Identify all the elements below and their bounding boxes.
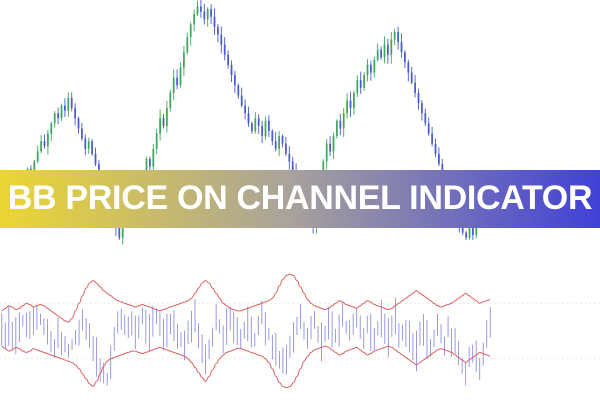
- candlestick: [50, 122, 52, 141]
- candlestick: [180, 62, 182, 87]
- candlestick: [404, 50, 406, 68]
- candlestick: [282, 135, 284, 148]
- candlestick: [339, 114, 341, 135]
- candlestick: [336, 119, 338, 138]
- candlestick: [244, 99, 246, 119]
- candlestick: [169, 90, 171, 112]
- candlestick: [435, 138, 437, 157]
- candlestick: [224, 37, 226, 60]
- candlestick: [380, 47, 382, 60]
- candlestick: [200, 0, 202, 18]
- candlestick: [176, 69, 178, 89]
- candlestick: [356, 75, 358, 97]
- candlestick: [424, 109, 426, 127]
- candlestick: [251, 121, 253, 133]
- candlestick: [67, 92, 69, 116]
- candlestick: [397, 27, 399, 50]
- candlestick: [183, 46, 185, 76]
- indicator-chart-panel: [0, 262, 600, 400]
- candlestick: [84, 134, 86, 155]
- candlestick: [61, 104, 63, 121]
- candlestick: [390, 32, 392, 64]
- candlestick: [81, 123, 83, 141]
- candlestick: [186, 33, 188, 55]
- candlestick: [414, 75, 416, 97]
- candlestick: [363, 72, 365, 91]
- candlestick: [74, 103, 76, 125]
- candlestick: [394, 29, 396, 46]
- candlestick: [333, 133, 335, 159]
- bollinger-bands-chart: [0, 262, 600, 400]
- candlestick: [350, 92, 352, 117]
- candlestick: [411, 67, 413, 84]
- candlestick: [203, 4, 205, 25]
- candlestick: [163, 114, 165, 129]
- candlestick: [40, 135, 42, 153]
- candlestick: [370, 61, 372, 81]
- candlestick: [268, 115, 270, 137]
- candlestick: [193, 10, 195, 32]
- candlestick: [214, 8, 216, 35]
- candlestick: [54, 111, 56, 127]
- candlestick: [210, 4, 212, 24]
- candlestick: [431, 127, 433, 147]
- candlestick: [285, 137, 287, 156]
- candlestick: [71, 93, 73, 112]
- candlestick: [343, 108, 345, 137]
- candlestick: [57, 108, 59, 125]
- candlestick: [360, 72, 362, 94]
- candlestick: [166, 101, 168, 133]
- candlestick: [278, 131, 280, 156]
- candlestick: [190, 22, 192, 45]
- candlestick: [465, 231, 467, 240]
- candlestick: [88, 138, 90, 154]
- candlestick: [288, 146, 290, 169]
- candlestick: [353, 91, 355, 115]
- page-title: BB PRICE ON CHANNEL INDICATOR: [8, 181, 592, 215]
- candlestick: [261, 121, 263, 143]
- candlestick: [254, 112, 256, 133]
- upper-band: [2, 274, 490, 322]
- candlestick: [217, 24, 219, 42]
- candlestick: [248, 107, 250, 127]
- candlestick: [227, 50, 229, 68]
- candlestick: [37, 146, 39, 164]
- candlestick: [220, 27, 222, 54]
- title-banner: BB PRICE ON CHANNEL INDICATOR: [0, 170, 600, 228]
- candlestick: [418, 89, 420, 110]
- candlestick: [241, 88, 243, 108]
- candlestick: [275, 132, 277, 151]
- candlestick: [197, 1, 199, 17]
- lower-band: [2, 346, 490, 388]
- candlestick: [156, 129, 158, 154]
- candlestick: [258, 114, 260, 134]
- candlestick: [95, 148, 97, 167]
- candlestick: [271, 129, 273, 145]
- candlestick: [346, 93, 348, 118]
- candlestick: [428, 117, 430, 135]
- candlestick: [407, 60, 409, 82]
- candlestick: [401, 33, 403, 58]
- candlestick: [173, 69, 175, 100]
- candlestick: [234, 71, 236, 93]
- candlestick: [265, 117, 267, 140]
- candlestick: [326, 139, 328, 170]
- indicator-screenshot: BB PRICE ON CHANNEL INDICATOR: [0, 0, 600, 400]
- candlestick: [421, 100, 423, 120]
- candlestick: [373, 57, 375, 78]
- candlestick: [44, 134, 46, 148]
- candlestick: [438, 147, 440, 166]
- candlestick: [329, 136, 331, 156]
- candlestick: [387, 39, 389, 64]
- candlestick: [367, 59, 369, 81]
- candlestick: [64, 98, 66, 117]
- candlestick: [237, 84, 239, 99]
- candlestick: [207, 7, 209, 27]
- candlestick: [159, 110, 161, 141]
- candlestick: [47, 130, 49, 155]
- candlestick: [91, 139, 93, 156]
- candlestick: [377, 43, 379, 61]
- candlestick: [78, 117, 80, 134]
- candlestick: [384, 36, 386, 63]
- candlestick: [231, 60, 233, 82]
